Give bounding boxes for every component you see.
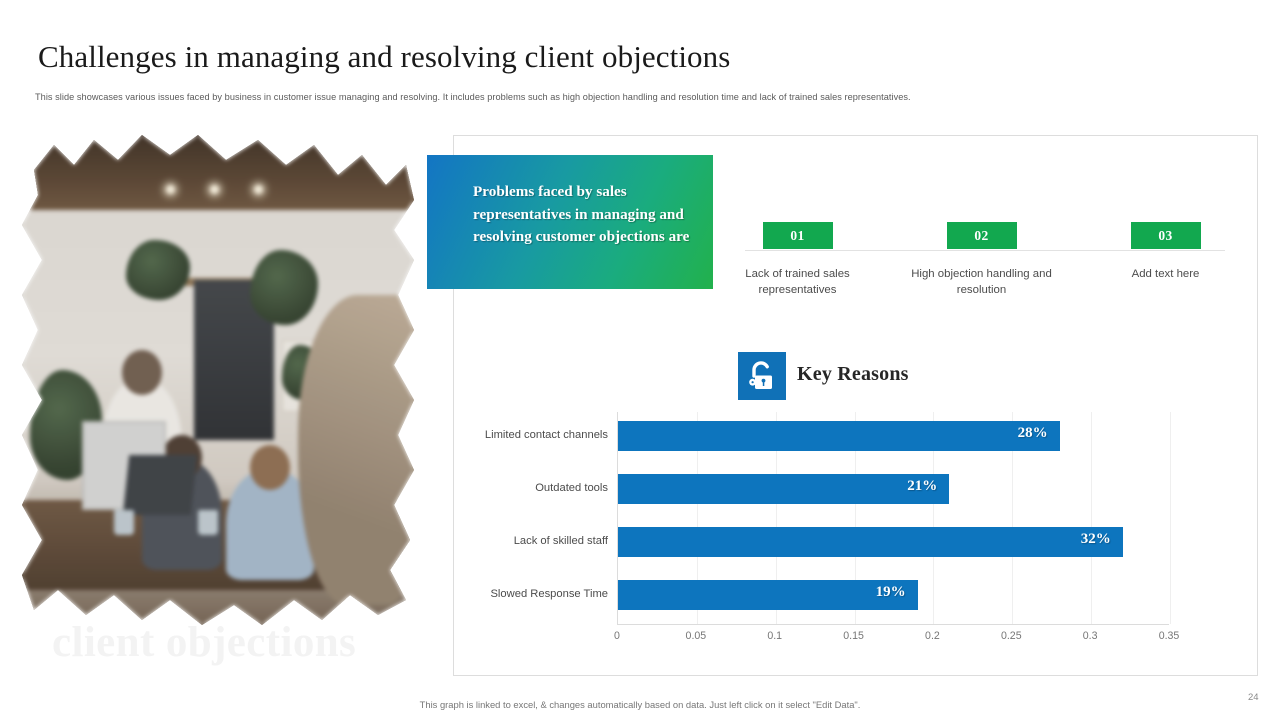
slide-canvas: Challenges in managing and resolving cli… <box>0 0 1280 720</box>
step-badge-number: 02 <box>947 222 1017 249</box>
chart-xtick: 0.3 <box>1060 630 1120 642</box>
step-badge-number: 01 <box>763 222 833 249</box>
chart-category-label: Outdated tools <box>468 482 608 494</box>
step-item-3[interactable]: 03 Add text here <box>1073 222 1258 283</box>
chart-xtick: 0.15 <box>824 630 884 642</box>
chart-xtick: 0.35 <box>1139 630 1199 642</box>
chart-bar-value: 32% <box>1081 531 1123 548</box>
chart-bar-row: Limited contact channels 28% <box>468 412 1213 465</box>
page-title: Challenges in managing and resolving cli… <box>38 38 1038 76</box>
watermark-text: client objections <box>52 618 356 667</box>
step-item-2[interactable]: 02 High objection handling and resolutio… <box>889 222 1074 298</box>
page-number: 24 <box>1248 692 1259 703</box>
chart-xtick: 0.2 <box>902 630 962 642</box>
step-label: Add text here <box>1073 267 1258 283</box>
chart-bar-value: 21% <box>907 478 949 495</box>
step-label: High objection handling and resolution <box>889 267 1074 298</box>
headline-text: Problems faced by sales representatives … <box>473 181 693 249</box>
chart-xtick: 0.05 <box>666 630 726 642</box>
chart-bar[interactable] <box>618 580 918 610</box>
chart-bar[interactable] <box>618 527 1123 557</box>
team-photo <box>18 130 418 630</box>
chart-bar-row: Outdated tools 21% <box>468 465 1213 518</box>
chart-bar[interactable] <box>618 474 949 504</box>
chart-xtick: 0.1 <box>745 630 805 642</box>
step-item-1[interactable]: 01 Lack of trained sales representatives <box>705 222 890 298</box>
step-label: Lack of trained sales representatives <box>705 267 890 298</box>
chart-bar-row: Lack of skilled staff 32% <box>468 518 1213 571</box>
chart-bar-value: 28% <box>1018 425 1060 442</box>
photo-blur-overlay <box>18 130 418 630</box>
chart-xtick: 0.25 <box>981 630 1041 642</box>
team-photo-mask <box>18 130 418 630</box>
chart-baseline <box>617 624 1169 625</box>
chart-category-label: Limited contact channels <box>468 429 608 441</box>
chart-category-label: Slowed Response Time <box>468 588 608 600</box>
step-badge-number: 03 <box>1131 222 1201 249</box>
chart-bar[interactable] <box>618 421 1060 451</box>
key-reasons-title: Key Reasons <box>797 363 909 386</box>
page-subtitle: This slide showcases various issues face… <box>35 90 1135 104</box>
footer-note: This graph is linked to excel, & changes… <box>0 699 1280 710</box>
headline-gradient-box: Problems faced by sales representatives … <box>427 155 713 289</box>
chart-category-label: Lack of skilled staff <box>468 535 608 547</box>
unlock-padlock-icon <box>738 352 786 400</box>
chart-bar-value: 19% <box>876 584 918 601</box>
chart-xtick: 0 <box>587 630 647 642</box>
bar-chart: Limited contact channels 28% Outdated to… <box>468 412 1213 652</box>
chart-bar-row: Slowed Response Time 19% <box>468 571 1213 624</box>
